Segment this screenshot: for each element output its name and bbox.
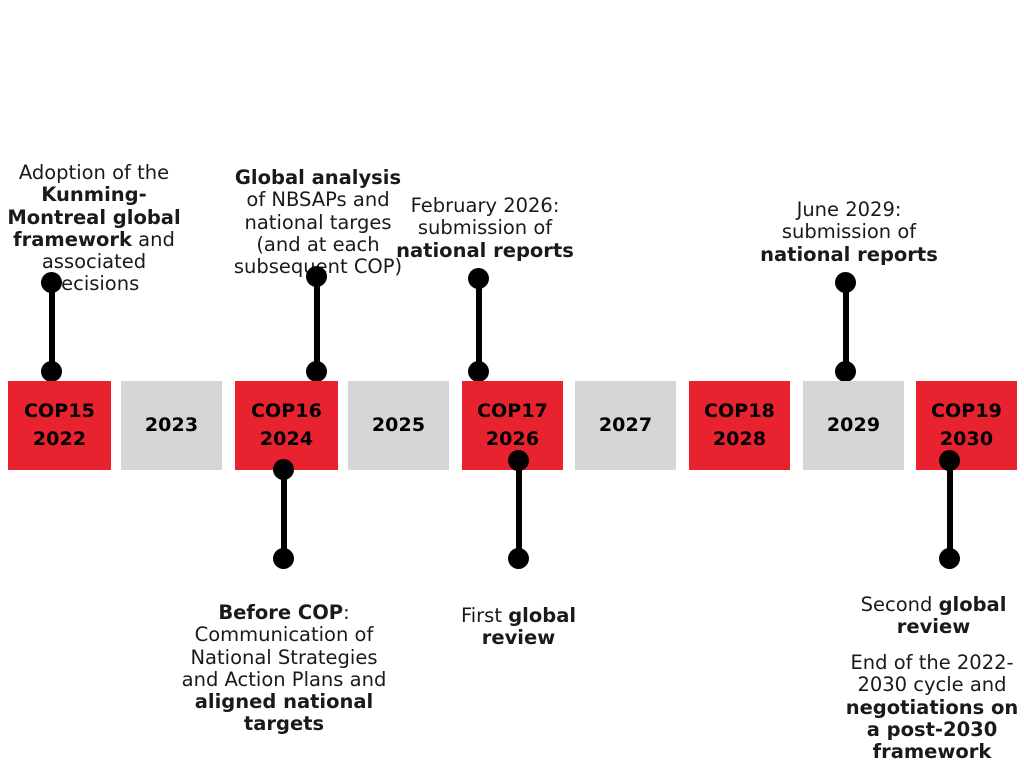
connector-cop19-down <box>939 450 961 569</box>
connector-stem <box>843 282 849 372</box>
timeline-box-year-label: 2022 <box>33 427 86 452</box>
timeline-box-year-label: 2025 <box>372 413 425 438</box>
connector-2029-up <box>835 272 857 382</box>
connector-cop17-down <box>508 450 530 569</box>
connector-cop16-up <box>306 266 328 382</box>
timeline-box-2027[interactable]: 2027 <box>575 381 676 470</box>
connector-dot-bottom <box>273 548 294 569</box>
note-end-of-cycle-line1: End of the 2022-2030 cycle and <box>850 651 1013 696</box>
note-global-analysis-bold1: Global analysis <box>235 166 401 189</box>
connector-stem <box>947 460 953 559</box>
timeline-box-year-label: 2024 <box>260 427 313 452</box>
connector-stem <box>281 469 287 559</box>
timeline-box-cop-label: COP15 <box>24 399 95 424</box>
timeline-box-2029[interactable]: 2029 <box>803 381 904 470</box>
note-adoption-mid: and <box>132 228 175 251</box>
note-before-cop-bold1: Before COP <box>218 601 343 624</box>
connector-dot-bottom <box>939 548 960 569</box>
connector-stem <box>314 276 320 372</box>
timeline-diagram: Adoption of the Kunming-Montreal global … <box>0 0 1024 768</box>
timeline-box-cop16[interactable]: COP16 2024 <box>235 381 338 470</box>
connector-stem <box>516 460 522 559</box>
timeline-box-2025[interactable]: 2025 <box>348 381 449 470</box>
note-end-of-cycle-bold1: negotiations on a post-2030 framework <box>846 696 1019 763</box>
timeline-box-cop-label: COP19 <box>931 399 1002 424</box>
timeline-box-cop-label: COP17 <box>477 399 548 424</box>
note-before-cop: Before COP: Communication of National St… <box>176 580 392 736</box>
timeline-box-2023[interactable]: 2023 <box>121 381 222 470</box>
connector-stem <box>49 282 55 372</box>
note-first-global-review: First global review <box>435 583 602 650</box>
note-global-analysis-rest: of NBSAPs and national targes (and at ea… <box>234 188 402 278</box>
connector-dot-bottom <box>835 361 856 382</box>
note-second-global-review-line1: Second <box>861 593 939 616</box>
connector-dot-bottom <box>41 361 62 382</box>
connector-cop17-up <box>468 268 490 382</box>
note-june-2029-bold1: national reports <box>760 243 938 266</box>
note-february-2026-bold1: national reports <box>396 239 574 262</box>
connector-cop16-down <box>273 459 295 569</box>
timeline-box-year-label: 2023 <box>145 413 198 438</box>
timeline-box-cop15[interactable]: COP15 2022 <box>8 381 111 470</box>
connector-dot-bottom <box>468 361 489 382</box>
timeline-box-cop-label: COP16 <box>251 399 322 424</box>
note-before-cop-bold2: aligned national targets <box>195 690 374 735</box>
timeline-box-year-label: 2030 <box>940 427 993 452</box>
connector-dot-bottom <box>508 548 529 569</box>
note-first-global-review-line1: First <box>461 604 508 627</box>
timeline-box-cop18[interactable]: COP18 2028 <box>689 381 790 470</box>
note-adoption-line1: Adoption of the <box>19 161 169 184</box>
note-global-analysis: Global analysis of NBSAPs and national t… <box>222 145 414 278</box>
note-second-global-review: Second global review <box>843 572 1024 639</box>
note-february-2026: February 2026: submission of national re… <box>395 173 575 262</box>
connector-dot-bottom <box>306 361 327 382</box>
connector-cop15-up <box>41 272 63 382</box>
timeline-box-year-label: 2029 <box>827 413 880 438</box>
note-end-of-cycle: End of the 2022-2030 cycle and negotiati… <box>840 630 1024 763</box>
note-february-2026-line1: February 2026: submission of <box>411 194 560 239</box>
note-adoption-kunming-montreal: Adoption of the Kunming-Montreal global … <box>0 140 190 296</box>
timeline-box-cop-label: COP18 <box>704 399 775 424</box>
connector-stem <box>476 278 482 372</box>
note-june-2029-line1: June 2029: submission of <box>782 198 916 243</box>
timeline-box-year-label: 2027 <box>599 413 652 438</box>
timeline-box-cop19[interactable]: COP19 2030 <box>916 381 1017 470</box>
timeline-box-year-label: 2026 <box>486 427 539 452</box>
timeline-box-year-label: 2028 <box>713 427 766 452</box>
note-june-2029: June 2029: submission of national report… <box>760 177 938 266</box>
